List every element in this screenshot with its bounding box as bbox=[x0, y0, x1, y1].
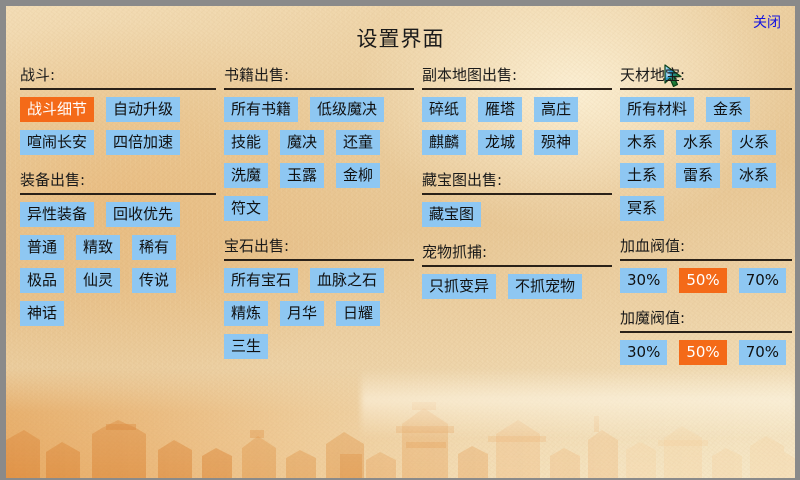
group-title-label: 天材地宝: bbox=[620, 66, 685, 84]
option-button[interactable]: 玉露 bbox=[280, 163, 324, 188]
option-button[interactable]: 魔决 bbox=[280, 130, 324, 155]
option-button[interactable]: 普通 bbox=[20, 235, 64, 260]
settings-window: 设置界面 关闭 战斗:战斗细节自动升级喧闹长安四倍加速装备出售:异性装备回收优先… bbox=[6, 6, 795, 478]
option-button[interactable]: 洗魔 bbox=[224, 163, 268, 188]
option-button-row: 30%50%70% bbox=[620, 268, 792, 293]
option-button[interactable]: 70% bbox=[739, 340, 786, 365]
group-title-label: 加魔阀值: bbox=[620, 309, 685, 327]
settings-column-4: 天材地宝:所有材料金系木系水系火系土系雷系冰系冥系加血阀值:30%50%70%加… bbox=[620, 64, 792, 379]
option-button[interactable]: 冥系 bbox=[620, 196, 664, 221]
settings-group: 加魔阀值:30%50%70% bbox=[620, 307, 792, 365]
group-title: 书籍出售: bbox=[224, 64, 414, 90]
option-button[interactable]: 金柳 bbox=[336, 163, 380, 188]
group-title-label: 装备出售: bbox=[20, 171, 85, 189]
option-button[interactable]: 雷系 bbox=[676, 163, 720, 188]
option-button[interactable]: 异性装备 bbox=[20, 202, 94, 227]
settings-group: 装备出售:异性装备回收优先普通精致稀有极品仙灵传说神话 bbox=[20, 169, 216, 326]
close-button[interactable]: 关闭 bbox=[753, 16, 781, 30]
option-button-row: 所有书籍低级魔决技能魔决还童洗魔玉露金柳符文 bbox=[224, 97, 414, 221]
group-title: 副本地图出售: bbox=[422, 64, 612, 90]
option-button[interactable]: 三生 bbox=[224, 334, 268, 359]
option-button[interactable]: 所有宝石 bbox=[224, 268, 298, 293]
option-button[interactable]: 冰系 bbox=[732, 163, 776, 188]
group-title: 装备出售: bbox=[20, 169, 216, 195]
option-button[interactable]: 还童 bbox=[336, 130, 380, 155]
group-title-label: 战斗: bbox=[20, 66, 55, 84]
option-button[interactable]: 雁塔 bbox=[478, 97, 522, 122]
option-button[interactable]: 神话 bbox=[20, 301, 64, 326]
option-button-row: 异性装备回收优先普通精致稀有极品仙灵传说神话 bbox=[20, 202, 216, 326]
option-button[interactable]: 喧闹长安 bbox=[20, 130, 94, 155]
group-title-label: 藏宝图出售: bbox=[422, 171, 502, 189]
option-button[interactable]: 稀有 bbox=[132, 235, 176, 260]
option-button[interactable]: 龙城 bbox=[478, 130, 522, 155]
option-button[interactable]: 木系 bbox=[620, 130, 664, 155]
option-button[interactable]: 极品 bbox=[20, 268, 64, 293]
settings-group: 宝石出售:所有宝石血脉之石精炼月华日耀三生 bbox=[224, 235, 414, 359]
group-title: 天材地宝: bbox=[620, 64, 792, 90]
settings-column-2: 书籍出售:所有书籍低级魔决技能魔决还童洗魔玉露金柳符文宝石出售:所有宝石血脉之石… bbox=[224, 64, 414, 373]
option-button[interactable]: 只抓变异 bbox=[422, 274, 496, 299]
settings-group: 副本地图出售:碎纸雁塔高庄麒麟龙城殒神 bbox=[422, 64, 612, 155]
group-title: 宠物抓捕: bbox=[422, 241, 612, 267]
option-button-row: 战斗细节自动升级喧闹长安四倍加速 bbox=[20, 97, 216, 155]
settings-content: 战斗:战斗细节自动升级喧闹长安四倍加速装备出售:异性装备回收优先普通精致稀有极品… bbox=[6, 64, 795, 478]
group-title: 加魔阀值: bbox=[620, 307, 792, 333]
group-title-label: 加血阀值: bbox=[620, 237, 685, 255]
option-button[interactable]: 符文 bbox=[224, 196, 268, 221]
settings-group: 藏宝图出售:藏宝图 bbox=[422, 169, 612, 227]
option-button[interactable]: 水系 bbox=[676, 130, 720, 155]
settings-group: 书籍出售:所有书籍低级魔决技能魔决还童洗魔玉露金柳符文 bbox=[224, 64, 414, 221]
option-button-row: 只抓变异不抓宠物 bbox=[422, 274, 612, 299]
option-button[interactable]: 技能 bbox=[224, 130, 268, 155]
settings-column-3: 副本地图出售:碎纸雁塔高庄麒麟龙城殒神藏宝图出售:藏宝图宠物抓捕:只抓变异不抓宠… bbox=[422, 64, 612, 313]
option-button-row: 所有宝石血脉之石精炼月华日耀三生 bbox=[224, 268, 414, 359]
option-button[interactable]: 藏宝图 bbox=[422, 202, 481, 227]
option-button-row: 藏宝图 bbox=[422, 202, 612, 227]
group-title-label: 副本地图出售: bbox=[422, 66, 517, 84]
option-button[interactable]: 70% bbox=[739, 268, 786, 293]
settings-group: 天材地宝:所有材料金系木系水系火系土系雷系冰系冥系 bbox=[620, 64, 792, 221]
option-button[interactable]: 碎纸 bbox=[422, 97, 466, 122]
option-button[interactable]: 精炼 bbox=[224, 301, 268, 326]
group-title: 加血阀值: bbox=[620, 235, 792, 261]
settings-group: 宠物抓捕:只抓变异不抓宠物 bbox=[422, 241, 612, 299]
option-button[interactable]: 火系 bbox=[732, 130, 776, 155]
option-button[interactable]: 不抓宠物 bbox=[508, 274, 582, 299]
option-button[interactable]: 四倍加速 bbox=[106, 130, 180, 155]
group-title: 战斗: bbox=[20, 64, 216, 90]
settings-group: 加血阀值:30%50%70% bbox=[620, 235, 792, 293]
option-button[interactable]: 低级魔决 bbox=[310, 97, 384, 122]
option-button[interactable]: 精致 bbox=[76, 235, 120, 260]
option-button[interactable]: 血脉之石 bbox=[310, 268, 384, 293]
group-title-label: 宝石出售: bbox=[224, 237, 289, 255]
option-button[interactable]: 日耀 bbox=[336, 301, 380, 326]
settings-group: 战斗:战斗细节自动升级喧闹长安四倍加速 bbox=[20, 64, 216, 155]
group-title-label: 宠物抓捕: bbox=[422, 243, 487, 261]
option-button[interactable]: 回收优先 bbox=[106, 202, 180, 227]
option-button[interactable]: 50% bbox=[679, 268, 726, 293]
group-title: 藏宝图出售: bbox=[422, 169, 612, 195]
settings-column-1: 战斗:战斗细节自动升级喧闹长安四倍加速装备出售:异性装备回收优先普通精致稀有极品… bbox=[20, 64, 216, 340]
option-button[interactable]: 麒麟 bbox=[422, 130, 466, 155]
option-button[interactable]: 金系 bbox=[706, 97, 750, 122]
option-button[interactable]: 所有书籍 bbox=[224, 97, 298, 122]
group-title-label: 书籍出售: bbox=[224, 66, 289, 84]
option-button[interactable]: 殒神 bbox=[534, 130, 578, 155]
option-button-row: 所有材料金系木系水系火系土系雷系冰系冥系 bbox=[620, 97, 792, 221]
option-button[interactable]: 土系 bbox=[620, 163, 664, 188]
option-button[interactable]: 高庄 bbox=[534, 97, 578, 122]
option-button[interactable]: 传说 bbox=[132, 268, 176, 293]
option-button[interactable]: 战斗细节 bbox=[20, 97, 94, 122]
option-button[interactable]: 自动升级 bbox=[106, 97, 180, 122]
option-button-row: 碎纸雁塔高庄麒麟龙城殒神 bbox=[422, 97, 612, 155]
page-title: 设置界面 bbox=[6, 23, 795, 53]
option-button[interactable]: 30% bbox=[620, 268, 667, 293]
option-button[interactable]: 仙灵 bbox=[76, 268, 120, 293]
option-button[interactable]: 所有材料 bbox=[620, 97, 694, 122]
option-button[interactable]: 50% bbox=[679, 340, 726, 365]
option-button[interactable]: 30% bbox=[620, 340, 667, 365]
group-title: 宝石出售: bbox=[224, 235, 414, 261]
option-button[interactable]: 月华 bbox=[280, 301, 324, 326]
option-button-row: 30%50%70% bbox=[620, 340, 792, 365]
